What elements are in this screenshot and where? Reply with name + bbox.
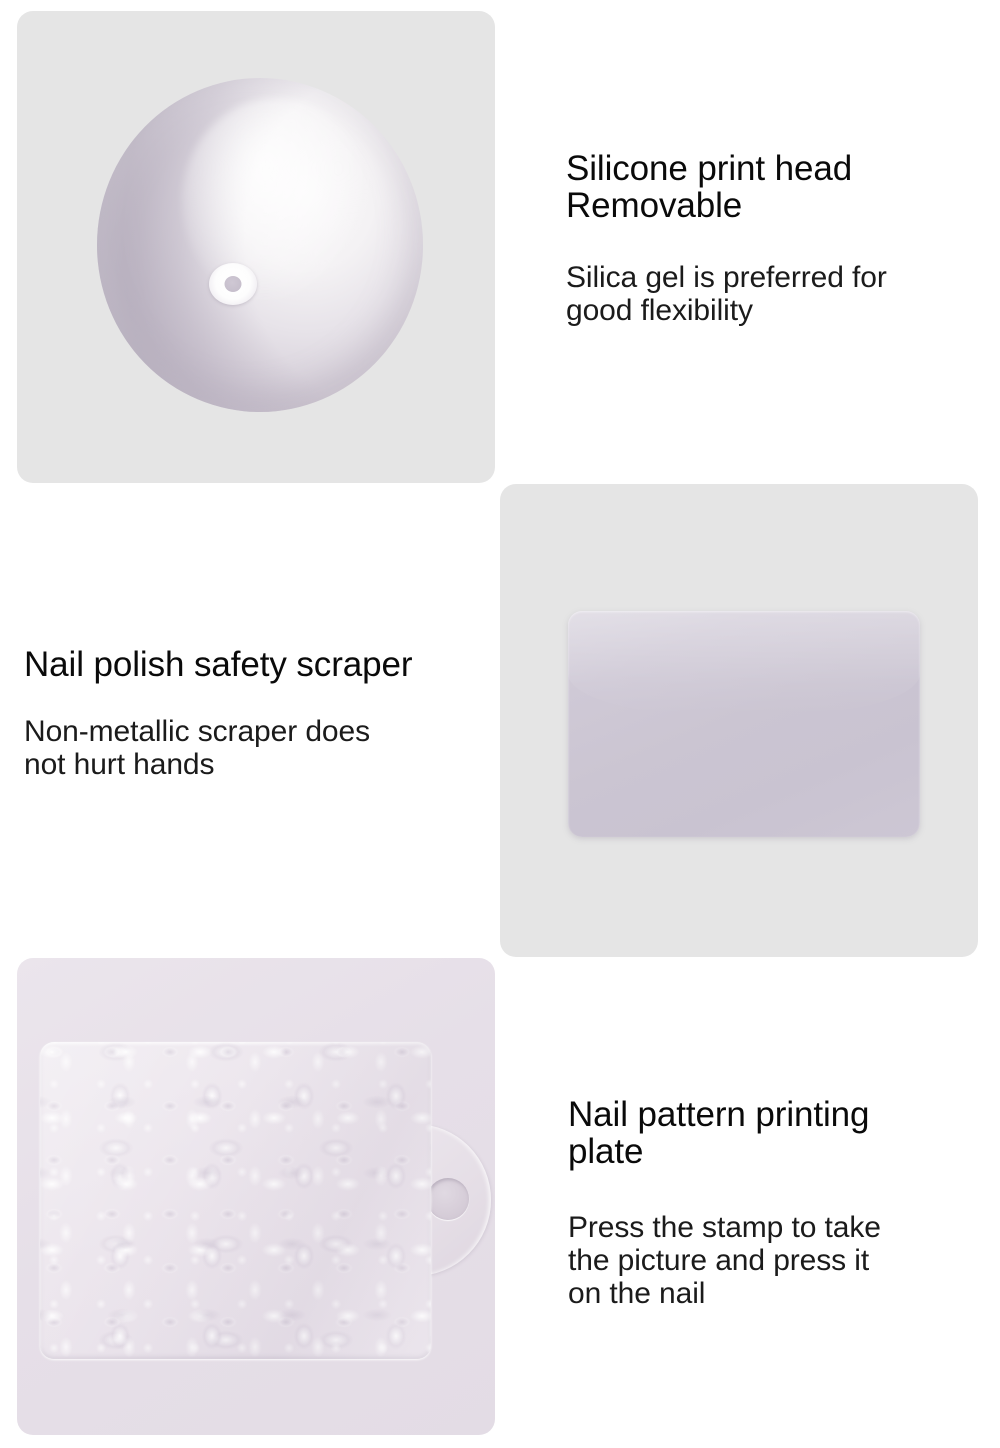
silicone-print-head-image-panel bbox=[17, 11, 495, 483]
stamp-head-vent-hole-icon bbox=[209, 263, 257, 305]
nail-pattern-plate-description: Press the stamp to take the picture and … bbox=[568, 1211, 980, 1310]
silicone-stamp-head-photo bbox=[97, 78, 423, 412]
plate-sheen-overlay bbox=[40, 1042, 431, 1359]
stamping-plate-pattern-field bbox=[40, 1042, 431, 1359]
nail-stamping-plate-photo bbox=[21, 974, 491, 1420]
safety-scraper-image-panel bbox=[500, 484, 978, 957]
stamping-plate-finger-hole-icon bbox=[427, 1178, 469, 1220]
nail-pattern-plate-image-panel bbox=[17, 958, 495, 1435]
nail-pattern-plate-title: Nail pattern printing plate bbox=[568, 1096, 980, 1171]
plastic-scraper-card-photo bbox=[568, 611, 920, 837]
silicone-print-head-text-block: Silicone print head Removable Silica gel… bbox=[566, 150, 984, 327]
nail-pattern-plate-text-block: Nail pattern printing plate Press the st… bbox=[568, 1096, 980, 1310]
safety-scraper-description: Non-metallic scraper does not hurt hands bbox=[24, 715, 504, 781]
product-feature-infographic: Silicone print head Removable Silica gel… bbox=[0, 0, 1000, 1448]
silicone-print-head-title: Silicone print head Removable bbox=[566, 150, 984, 225]
safety-scraper-text-block: Nail polish safety scraper Non-metallic … bbox=[24, 646, 504, 781]
safety-scraper-title: Nail polish safety scraper bbox=[24, 646, 504, 683]
silicone-print-head-description: Silica gel is preferred for good flexibi… bbox=[566, 261, 984, 327]
